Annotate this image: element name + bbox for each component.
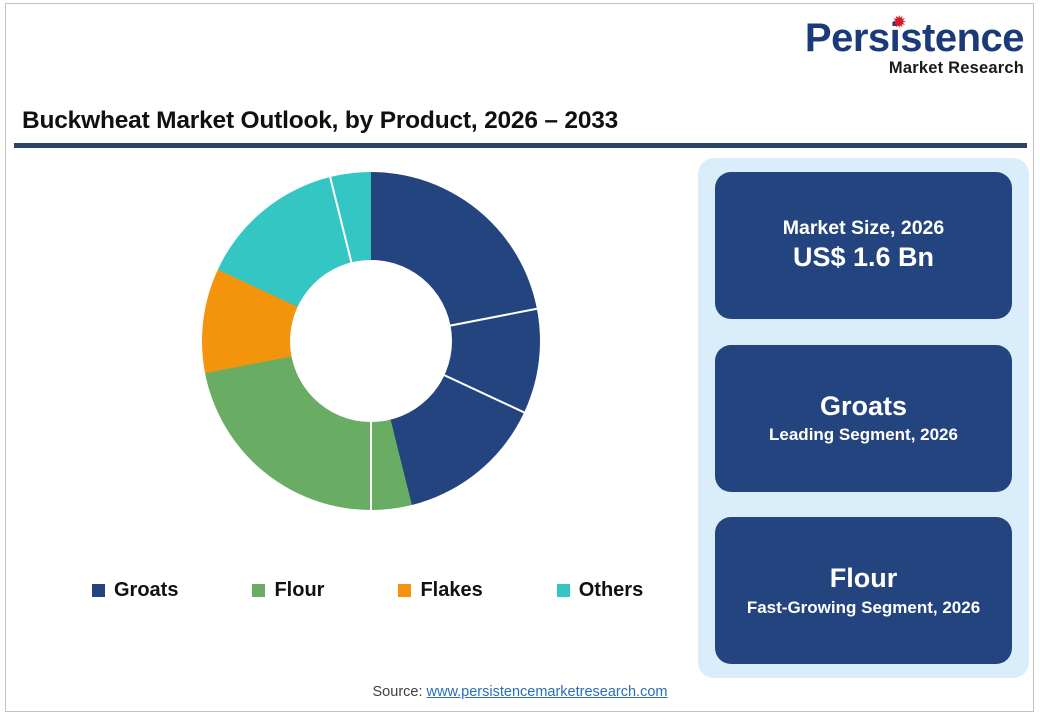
source-label: Source:	[373, 684, 423, 700]
legend-item[interactable]: Groats	[92, 579, 178, 602]
asterisk-icon: ✹	[893, 15, 905, 30]
legend-item[interactable]: Flour	[252, 579, 324, 602]
legend-label: Groats	[114, 579, 178, 602]
brand-logo: Persistence ✹ Market Research	[805, 18, 1024, 77]
stat-card-market-size: Market Size, 2026 US$ 1.6 Bn	[715, 172, 1012, 319]
legend-item[interactable]: Flakes	[398, 579, 482, 602]
source-line: Source: www.persistencemarketresearch.co…	[0, 684, 1040, 700]
title-divider	[14, 143, 1027, 148]
brand-name: Persistence ✹	[805, 18, 1024, 58]
source-url-link[interactable]: www.persistencemarketresearch.com	[427, 684, 668, 700]
stat-card-value: Flour	[830, 561, 898, 596]
donut-chart-graphic	[202, 172, 540, 510]
page-title: Buckwheat Market Outlook, by Product, 20…	[22, 107, 618, 135]
brand-name-text: Persistence	[805, 16, 1024, 60]
legend-swatch-icon	[92, 584, 105, 597]
legend-swatch-icon	[252, 584, 265, 597]
stat-card-note: Leading Segment, 2026	[769, 424, 958, 447]
stat-card-kicker: Market Size, 2026	[783, 216, 945, 240]
stat-card-note: Fast-Growing Segment, 2026	[747, 597, 980, 620]
legend-swatch-icon	[398, 584, 411, 597]
brand-tagline: Market Research	[805, 60, 1024, 77]
infographic-page: Persistence ✹ Market Research Buckwheat …	[0, 0, 1040, 720]
legend-label: Flour	[274, 579, 324, 602]
legend-item[interactable]: Others	[557, 579, 643, 602]
donut-center-hole	[290, 260, 452, 422]
stat-card-value: US$ 1.6 Bn	[793, 240, 934, 275]
stat-card-leading-segment: Groats Leading Segment, 2026	[715, 345, 1012, 492]
stat-card-value: Groats	[820, 389, 907, 424]
donut-chart	[14, 155, 686, 555]
stat-card-fast-growing-segment: Flour Fast-Growing Segment, 2026	[715, 517, 1012, 664]
legend-label: Flakes	[420, 579, 482, 602]
legend-label: Others	[579, 579, 643, 602]
highlight-panel: Market Size, 2026 US$ 1.6 Bn Groats Lead…	[698, 158, 1029, 678]
chart-legend: GroatsFlourFlakesOthers	[14, 570, 686, 610]
legend-swatch-icon	[557, 584, 570, 597]
